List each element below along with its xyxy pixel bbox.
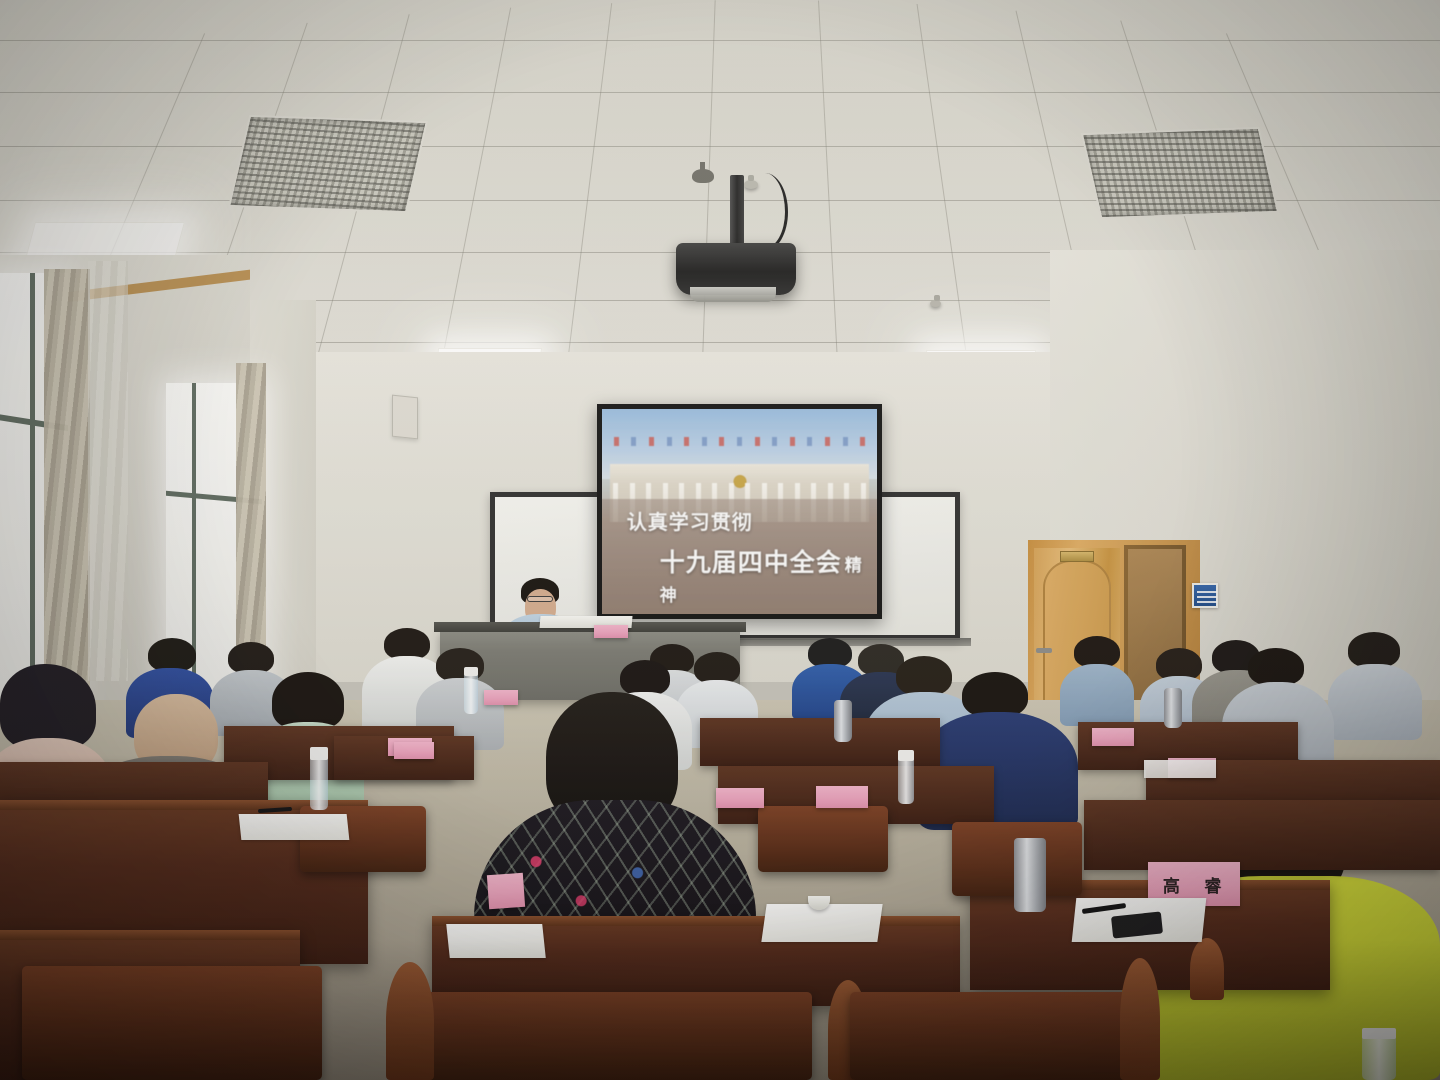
projected-slide: 认真学习贯彻 十九届四中全会精神	[602, 409, 877, 614]
curtain-left	[44, 269, 90, 715]
steel-thermos	[1014, 838, 1046, 912]
attendee-hair	[1248, 648, 1304, 686]
water-bottle	[898, 756, 914, 804]
blue-wall-sign	[1192, 583, 1218, 608]
attendee-torso	[1060, 664, 1134, 726]
name-card-text: 高 睿	[1163, 872, 1225, 897]
name-card-centre-row-2	[816, 786, 868, 808]
wall-speaker	[392, 395, 418, 440]
glasses-icon	[527, 596, 553, 602]
desk-edge	[0, 930, 300, 940]
name-card-left-mid	[487, 873, 525, 909]
name-card-right-row	[1092, 728, 1134, 746]
attendee-hair	[896, 656, 952, 696]
name-card-left-green	[394, 742, 434, 759]
name-card-centre-row	[716, 788, 764, 808]
ceiling-projector	[730, 175, 744, 245]
attendee-hair	[148, 638, 196, 672]
steel-thermos	[1164, 688, 1182, 728]
ceiling-air-vent	[228, 115, 428, 213]
meeting-room-photo: 认真学习贯彻 十九届四中全会精神	[0, 0, 1440, 1080]
attendee-torso	[1328, 664, 1422, 740]
attendee-hair	[620, 660, 670, 696]
document-sheet	[239, 814, 350, 840]
ceiling-air-vent	[1081, 127, 1279, 219]
steel-thermos	[834, 700, 852, 742]
chair-row-centre[interactable]	[758, 806, 888, 872]
bottle-cap	[898, 750, 914, 761]
projector-cable	[742, 173, 788, 251]
bottle-cap	[464, 667, 478, 676]
screen-glare	[602, 409, 877, 614]
projector-mount	[692, 169, 714, 183]
door-handle[interactable]	[1036, 648, 1052, 653]
projector-body	[676, 243, 796, 295]
foreground-shadow	[0, 940, 1440, 1080]
name-card-podium	[594, 625, 628, 638]
smoke-detector	[930, 300, 941, 307]
projector-lens	[690, 287, 776, 302]
curtain-center	[88, 261, 128, 681]
water-bottle	[464, 672, 478, 714]
attendee-hair	[1348, 632, 1400, 668]
document-sheet	[1144, 760, 1216, 778]
window-wall	[0, 255, 250, 725]
desk-right-mid	[1084, 800, 1440, 870]
document-sheet	[761, 904, 882, 942]
projection-screen: 认真学习贯彻 十九届四中全会精神	[597, 404, 882, 619]
door-plate	[1060, 551, 1094, 562]
name-card-left-row-2	[484, 690, 518, 705]
bottle-cap	[310, 747, 328, 759]
water-bottle	[310, 754, 328, 810]
